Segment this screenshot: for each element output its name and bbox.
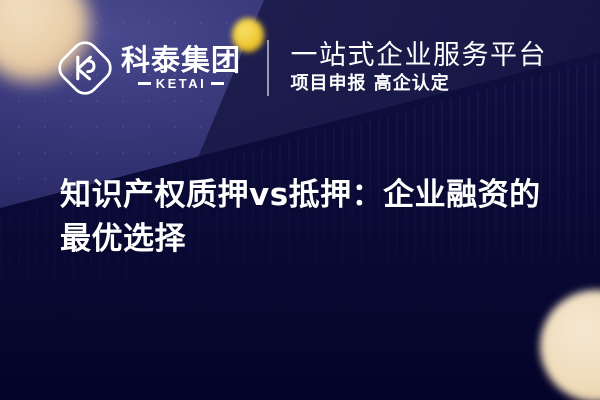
logo-company-name-cn: 科泰集团 bbox=[121, 46, 241, 75]
header-divider bbox=[267, 40, 269, 96]
logo-dash-right bbox=[211, 82, 224, 85]
ketai-diamond-monogram-icon bbox=[58, 41, 112, 95]
logo-dash-left bbox=[138, 82, 151, 85]
tagline-secondary: 项目申报 高企认定 bbox=[291, 74, 548, 94]
logo-company-name-en: KETAI bbox=[138, 77, 225, 90]
banner-header: 科泰集团 KETAI 一站式企业服务平台 项目申报 高企认定 bbox=[58, 40, 547, 96]
header-tagline: 一站式企业服务平台 项目申报 高企认定 bbox=[291, 42, 548, 94]
tagline-primary: 一站式企业服务平台 bbox=[291, 42, 548, 70]
logo-wordmark: 科泰集团 KETAI bbox=[121, 46, 241, 90]
promo-banner: 科泰集团 KETAI 一站式企业服务平台 项目申报 高企认定 知识产权质押vs抵… bbox=[0, 0, 600, 400]
logo-company-name-en-text: KETAI bbox=[156, 77, 207, 90]
page-title: 知识产权质押vs抵押：企业融资的最优选择 bbox=[60, 173, 554, 261]
company-logo: 科泰集团 KETAI bbox=[58, 41, 241, 95]
